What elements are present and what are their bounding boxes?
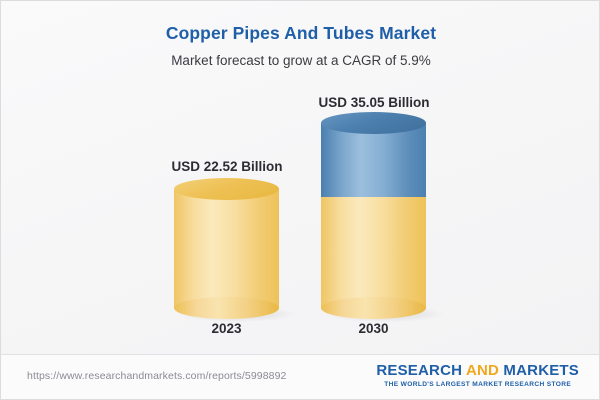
bar-value-label-2023: USD 22.52 Billion [112,159,342,174]
cylinder-body [174,189,279,308]
bar-2030[interactable] [321,123,426,308]
bar-segment-base [174,189,279,308]
bar-value-label-2030: USD 35.05 Billion [259,95,489,110]
category-label-2023: 2023 [174,321,279,336]
cylinder-top-cap [174,178,279,200]
footer-bar: https://www.researchandmarkets.com/repor… [1,354,600,399]
cylinder-2030 [321,123,426,308]
cylinder-bottom-cap [321,297,426,319]
brand-logo[interactable]: RESEARCH AND MARKETS THE WORLD'S LARGEST… [376,363,579,388]
bar-segment-base [321,197,426,308]
brand-tagline: THE WORLD'S LARGEST MARKET RESEARCH STOR… [376,381,579,388]
market-forecast-infographic: Copper Pipes And Tubes Market Market for… [0,0,600,400]
cylinder-2023 [174,189,279,308]
chart-plot-area: USD 22.52 Billion USD 35.05 Billion [1,1,600,356]
report-url[interactable]: https://www.researchandmarkets.com/repor… [27,370,286,382]
brand-name-part2: MARKETS [499,362,579,379]
category-label-2030: 2030 [321,321,426,336]
brand-name-part1: RESEARCH [376,362,466,379]
cylinder-body [321,123,426,197]
cylinder-bottom-cap [174,297,279,319]
bar-2023[interactable] [174,189,279,308]
brand-name-and: AND [466,362,499,379]
cylinder-top-cap [321,112,426,134]
brand-name: RESEARCH AND MARKETS [376,363,579,379]
cylinder-body [321,197,426,308]
bar-segment-growth [321,123,426,197]
